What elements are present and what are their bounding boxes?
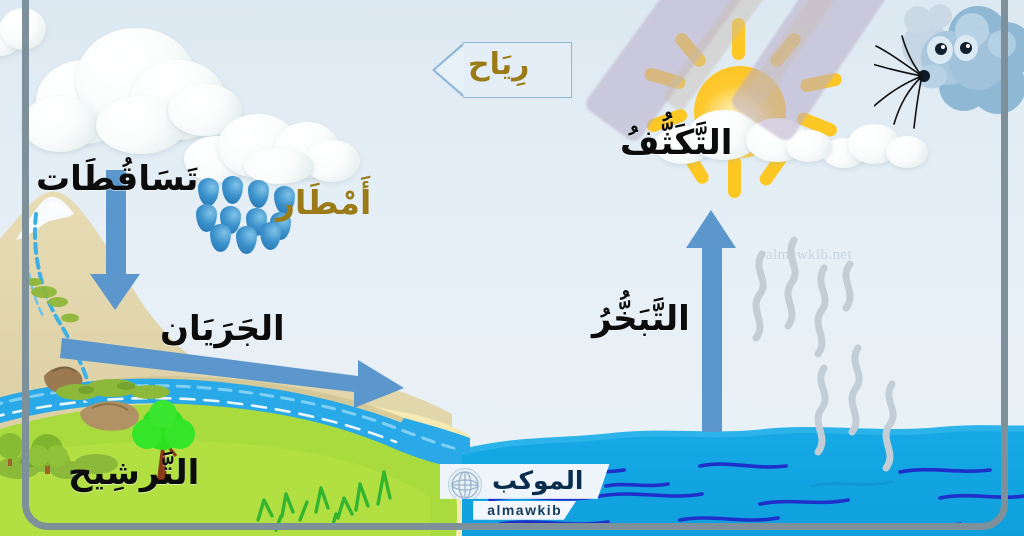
label-wind: رِيَاح — [468, 50, 529, 80]
raindrop-icon — [210, 224, 231, 252]
raindrop-icon — [222, 176, 243, 204]
cloud-icon — [0, 6, 48, 58]
label-condensation: التَّكَثُّفُ — [620, 126, 732, 160]
logo-text-ar: الموكب — [492, 467, 583, 495]
label-evaporation: التَّبَخُّرُ — [592, 302, 690, 336]
globe-icon — [448, 468, 482, 502]
vapor-squiggle-icon — [804, 326, 934, 476]
raindrop-icon — [236, 226, 257, 254]
raindrop-icon — [248, 180, 269, 208]
label-runoff: الجَرَيَان — [160, 312, 285, 346]
logo-text-en: almawkib — [473, 501, 576, 520]
blowing-cloud-face-icon — [874, 2, 1024, 132]
raindrop-icon — [260, 222, 281, 250]
water-cycle-illustration: تَسَاقُطَات أَمْطَار رِيَاح التَّكَثُّفُ… — [0, 0, 1024, 536]
watermark-text: almawkib.net — [766, 247, 852, 264]
label-infiltration: التَّرشِيح — [68, 456, 199, 490]
logo-plate: الموكب — [440, 464, 609, 499]
site-logo[interactable]: الموكب almawkib — [440, 464, 609, 520]
cloud-icon — [178, 112, 364, 186]
raindrop-icon — [198, 178, 219, 206]
label-precipitation: تَسَاقُطَات — [36, 162, 198, 196]
label-rain: أَمْطَار — [276, 186, 371, 219]
